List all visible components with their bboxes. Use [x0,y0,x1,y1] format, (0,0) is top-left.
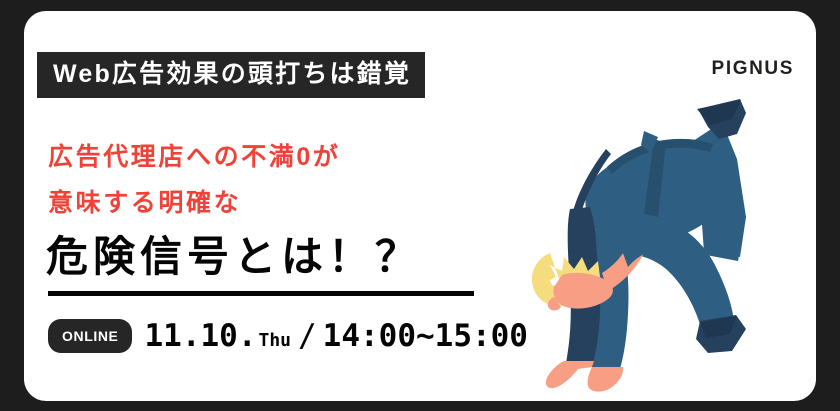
schedule-date: 11.10. [145,321,257,352]
status-badge-online: ONLINE [48,319,132,353]
schedule-separator: / [298,321,317,352]
copy-block: Web広告効果の頭打ちは錯覚 広告代理店への不満0が 意味する明確な 危険信号と… [37,11,507,401]
eyebrow-badge: Web広告効果の頭打ちは錯覚 [37,52,425,98]
illustration-hand-left [546,361,594,388]
schedule-datetime: 11.10. Thu / 14:00~15:00 [145,321,528,352]
schedule-row: ONLINE 11.10. Thu / 14:00~15:00 [48,319,528,353]
banner-card: PIGNUS Web広告効果の頭打ちは錯覚 広告代理店への不満0が 意味する明確… [24,11,816,401]
headline-underline [48,291,474,296]
subheadline-line-1: 広告代理店への不満0が [48,145,341,170]
subheadline-line-2: 意味する明確な [48,191,241,216]
illustration-hand-right [588,367,624,392]
page-title: 危険信号とは！？ [46,236,422,278]
webinar-banner: PIGNUS Web広告効果の頭打ちは錯覚 広告代理店への不満0が 意味する明確… [0,0,840,411]
businessperson-illustration [494,21,814,401]
schedule-day-of-week: Thu [258,332,291,350]
